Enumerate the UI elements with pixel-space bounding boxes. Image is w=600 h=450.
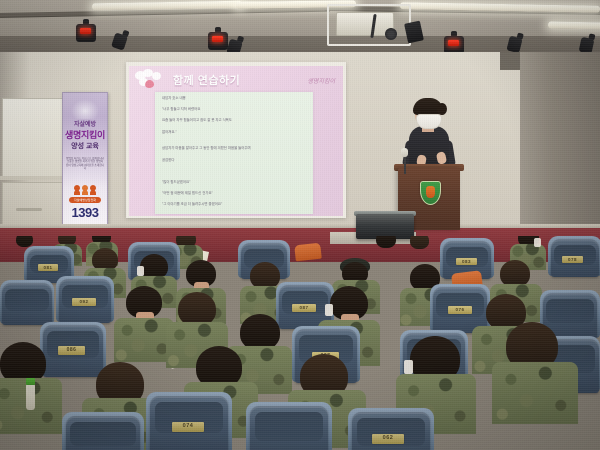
banner-title-line2: 생명지킴이: [63, 131, 107, 140]
seat[interactable]: [66, 416, 140, 450]
water-bottle-cap[interactable]: [26, 378, 35, 385]
wall-panel: [2, 182, 66, 230]
seat[interactable]: [250, 406, 328, 450]
wall-panel-handle: [16, 208, 42, 211]
banner-people-icon: [74, 185, 96, 195]
audience-member: [178, 292, 216, 326]
audience-member: [500, 260, 530, 287]
seat-number-plate: 076: [448, 306, 472, 314]
water-bottle[interactable]: [26, 384, 35, 410]
audience-member: [240, 314, 280, 350]
banner-body-text: 생명을 지키는 마음으로 함께합니다 소중한 생명을 지키기 위한 생명지킴이 …: [66, 157, 104, 179]
seat-number-plate: 083: [456, 258, 477, 265]
slide-corner-script: 생명지킴이: [307, 76, 335, 85]
banner-heart-graphic: [71, 99, 99, 119]
wall-column: [520, 52, 600, 237]
emblem-torch-icon: [426, 186, 435, 198]
stage-spotlight: [208, 32, 228, 50]
seat-number-plate: 062: [372, 434, 404, 444]
audience-seating: 081 084 083 078: [0, 236, 600, 450]
face-mask: [416, 114, 442, 129]
microphone-head: [401, 148, 408, 157]
face-mask: [325, 304, 333, 316]
whiteboard-tray: [0, 176, 64, 180]
audience-member: [250, 262, 280, 289]
rollup-banner: 자살예방 생명지킴이 양성 교육 생명을 지키는 마음으로 함께합니다 소중한 …: [62, 92, 108, 226]
slide-body-panel: 내담자 호소 내용 "너무 힘들고 지쳐 버렸어요 요즘 들어 자꾸 힘들어지고…: [155, 92, 313, 214]
audience-member: [376, 236, 396, 248]
face-mask: [534, 238, 541, 247]
banner-hotline-label: 자살예방상담전화: [69, 197, 101, 203]
seat-number-plate: 081: [38, 264, 58, 271]
face-mask: [137, 266, 144, 276]
banner-title-line1: 자살예방: [63, 122, 107, 128]
audience-member: [410, 236, 429, 249]
seat-number-plate: 086: [58, 346, 85, 355]
seat-number-plate: 092: [72, 298, 96, 306]
seat-number-plate: 087: [292, 304, 316, 312]
slide-title: 함께 연습하기: [173, 72, 240, 88]
projector-lens: [385, 28, 397, 40]
audience-uniform: [492, 362, 578, 424]
face-mask: [404, 360, 413, 374]
fluorescent-strip-light: [548, 21, 600, 29]
banner-title-line3: 양성 교육: [63, 143, 107, 150]
banner-hotline-number: 1393: [63, 205, 107, 220]
seat[interactable]: [2, 283, 52, 325]
seat[interactable]: [352, 412, 430, 450]
seat-number-plate: 074: [172, 422, 204, 432]
audience-uniform: [114, 318, 174, 362]
presentation-slide: 함께 연습하기 생명지킴이 내담자 호소 내용 "너무 힘들고 지쳐 버렸어요 …: [129, 66, 343, 216]
auditorium-photo: 자살예방 생명지킴이 양성 교육 생명을 지키는 마음으로 함께합니다 소중한 …: [0, 0, 600, 450]
slide-body-text: 내담자 호소 내용 "너무 힘들고 지쳐 버렸어요 요즘 들어 자꾸 힘들어지고…: [162, 96, 306, 208]
seat-number-plate: 078: [562, 256, 583, 263]
whiteboard: [2, 98, 64, 178]
stage-spotlight: [76, 24, 96, 42]
accent-seat[interactable]: [294, 243, 322, 262]
